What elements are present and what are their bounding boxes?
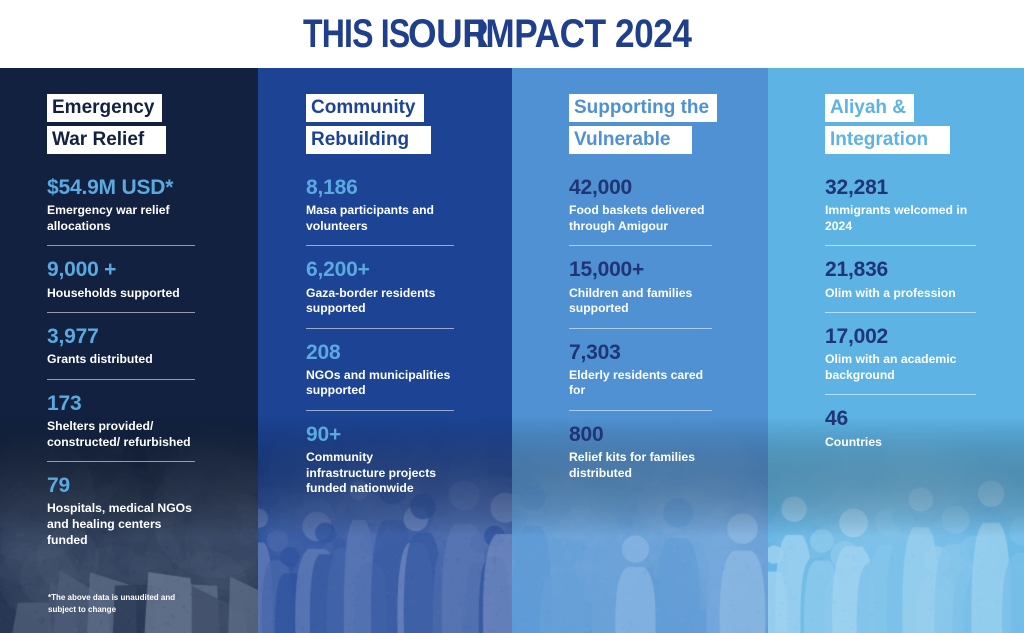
stat-item: 79Hospitals, medical NGOs and healing ce… bbox=[47, 474, 195, 548]
stat-divider bbox=[825, 245, 976, 246]
stat-divider bbox=[306, 410, 454, 411]
page-title-part3: IMPACT 2024 bbox=[476, 14, 692, 54]
stat-divider bbox=[306, 328, 454, 329]
stat-item: 46Countries bbox=[825, 407, 976, 450]
stat-number: $54.9M USD* bbox=[47, 176, 195, 200]
stat-item: 3,977Grants distributed bbox=[47, 325, 195, 368]
column-supporting-the-vulnerable: Supporting the Vulnerable 42,000Food bas… bbox=[512, 68, 768, 633]
column-content: Aliyah & Integration 32,281Immigrants we… bbox=[768, 68, 1024, 633]
stat-number: 79 bbox=[47, 474, 195, 498]
column-heading: Supporting the Vulnerable bbox=[569, 94, 712, 158]
stat-label: Immigrants welcomed in 2024 bbox=[825, 203, 976, 234]
column-content: Community Rebuilding 8,186Masa participa… bbox=[258, 68, 512, 633]
stat-item: 6,200+Gaza-border residents supported bbox=[306, 258, 454, 316]
stat-label: Children and families supported bbox=[569, 286, 712, 317]
stat-divider bbox=[306, 245, 454, 246]
stat-label: Emergency war relief allocations bbox=[47, 203, 195, 234]
stat-number: 17,002 bbox=[825, 325, 976, 349]
stat-number: 90+ bbox=[306, 423, 454, 447]
stat-divider bbox=[47, 312, 195, 313]
stat-number: 32,281 bbox=[825, 176, 976, 200]
column-heading-line-1: Aliyah & bbox=[825, 94, 914, 122]
stat-divider bbox=[569, 328, 712, 329]
column-emergency-war-relief: Emergency War Relief $54.9M USD*Emergenc… bbox=[0, 68, 258, 633]
page-title-part1: THIS IS bbox=[303, 14, 409, 54]
column-heading: Emergency War Relief bbox=[47, 94, 195, 158]
stat-number: 208 bbox=[306, 341, 454, 365]
column-heading-line-1: Emergency bbox=[47, 94, 162, 122]
stat-label: Food baskets delivered through Amigour bbox=[569, 203, 712, 234]
stat-number: 21,836 bbox=[825, 258, 976, 282]
stat-number: 6,200+ bbox=[306, 258, 454, 282]
stat-label: Households supported bbox=[47, 286, 195, 302]
stats-list: 8,186Masa participants and volunteers6,2… bbox=[306, 176, 454, 497]
column-content: Supporting the Vulnerable 42,000Food bas… bbox=[512, 68, 768, 633]
column-aliyah-and-integration: Aliyah & Integration 32,281Immigrants we… bbox=[768, 68, 1024, 633]
stat-number: 7,303 bbox=[569, 341, 712, 365]
stat-item: 90+Community infrastructure projects fun… bbox=[306, 423, 454, 497]
stat-item: $54.9M USD*Emergency war relief allocati… bbox=[47, 176, 195, 234]
stat-number: 800 bbox=[569, 423, 712, 447]
stat-label: NGOs and municipalities supported bbox=[306, 368, 454, 399]
stat-label: Countries bbox=[825, 435, 976, 451]
stat-item: 7,303Elderly residents cared for bbox=[569, 341, 712, 399]
stat-number: 42,000 bbox=[569, 176, 712, 200]
column-heading: Aliyah & Integration bbox=[825, 94, 976, 158]
stat-divider bbox=[47, 245, 195, 246]
stat-label: Elderly residents cared for bbox=[569, 368, 712, 399]
stat-divider bbox=[825, 312, 976, 313]
stat-label: Gaza-border residents supported bbox=[306, 286, 454, 317]
stat-divider bbox=[569, 245, 712, 246]
column-heading-line-2: Vulnerable bbox=[569, 126, 692, 154]
column-heading-line-1: Community bbox=[306, 94, 424, 122]
column-content: Emergency War Relief $54.9M USD*Emergenc… bbox=[0, 68, 258, 633]
column-heading: Community Rebuilding bbox=[306, 94, 454, 158]
column-community-rebuilding: Community Rebuilding 8,186Masa participa… bbox=[258, 68, 512, 633]
stat-item: 9,000 +Households supported bbox=[47, 258, 195, 301]
stat-divider bbox=[47, 461, 195, 462]
stat-item: 173Shelters provided/ constructed/ refur… bbox=[47, 392, 195, 450]
column-heading-line-2: Rebuilding bbox=[306, 126, 431, 154]
stat-number: 15,000+ bbox=[569, 258, 712, 282]
page-title: THIS IS OUR IMPACT 2024 bbox=[303, 14, 720, 54]
stat-item: 32,281Immigrants welcomed in 2024 bbox=[825, 176, 976, 234]
infographic-page: THIS IS OUR IMPACT 2024 Emergency War Re… bbox=[0, 0, 1024, 633]
stat-divider bbox=[825, 394, 976, 395]
stat-label: Olim with an academic background bbox=[825, 352, 976, 383]
stat-label: Shelters provided/ constructed/ refurbis… bbox=[47, 419, 195, 450]
columns-container: Emergency War Relief $54.9M USD*Emergenc… bbox=[0, 68, 1024, 633]
stat-number: 173 bbox=[47, 392, 195, 416]
stat-divider bbox=[47, 379, 195, 380]
column-heading-line-1: Supporting the bbox=[569, 94, 717, 122]
stat-item: 21,836Olim with a profession bbox=[825, 258, 976, 301]
page-header: THIS IS OUR IMPACT 2024 bbox=[0, 0, 1024, 68]
stat-label: Hospitals, medical NGOs and healing cent… bbox=[47, 501, 195, 548]
stat-number: 9,000 + bbox=[47, 258, 195, 282]
stat-item: 8,186Masa participants and volunteers bbox=[306, 176, 454, 234]
stat-item: 15,000+Children and families supported bbox=[569, 258, 712, 316]
stat-number: 46 bbox=[825, 407, 976, 431]
stats-list: 42,000Food baskets delivered through Ami… bbox=[569, 176, 712, 481]
stats-list: $54.9M USD*Emergency war relief allocati… bbox=[47, 176, 195, 548]
stat-label: Olim with a profession bbox=[825, 286, 976, 302]
stat-label: Masa participants and volunteers bbox=[306, 203, 454, 234]
footnote: *The above data is unaudited and subject… bbox=[48, 592, 198, 615]
stat-label: Grants distributed bbox=[47, 352, 195, 368]
stat-label: Relief kits for families distributed bbox=[569, 450, 712, 481]
stat-number: 3,977 bbox=[47, 325, 195, 349]
stat-label: Community infrastructure projects funded… bbox=[306, 450, 454, 497]
stat-item: 800Relief kits for families distributed bbox=[569, 423, 712, 481]
column-heading-line-2: War Relief bbox=[47, 126, 166, 154]
stat-divider bbox=[569, 410, 712, 411]
stat-item: 17,002Olim with an academic background bbox=[825, 325, 976, 383]
stat-item: 42,000Food baskets delivered through Ami… bbox=[569, 176, 712, 234]
stat-number: 8,186 bbox=[306, 176, 454, 200]
column-heading-line-2: Integration bbox=[825, 126, 950, 154]
stat-item: 208NGOs and municipalities supported bbox=[306, 341, 454, 399]
stats-list: 32,281Immigrants welcomed in 202421,836O… bbox=[825, 176, 976, 450]
